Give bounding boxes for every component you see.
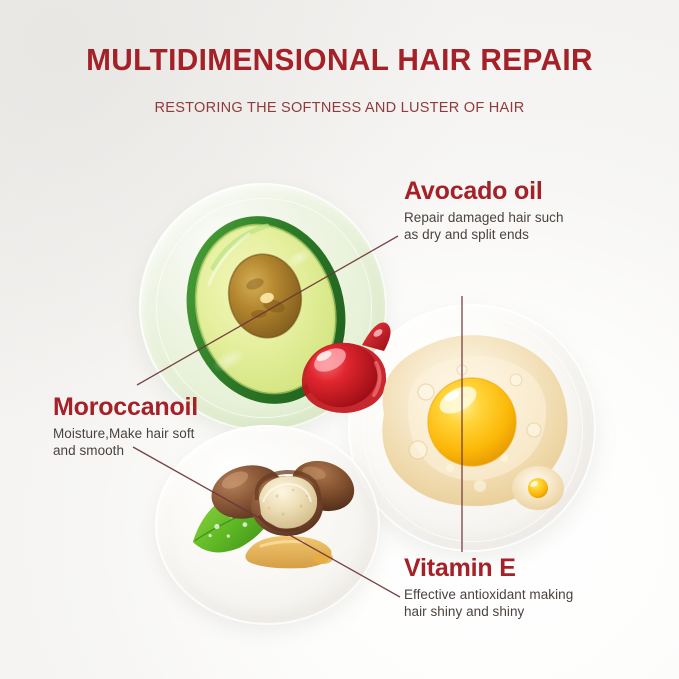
callout-vitamin-e-line-2: hair shiny and shiny (404, 603, 573, 620)
page-subtitle: RESTORING THE SOFTNESS AND LUSTER OF HAI… (10, 98, 669, 118)
argan-nuts-image (183, 440, 368, 580)
callout-avocado-title: Avocado oil (404, 176, 564, 206)
callout-avocado-line-2: as dry and split ends (404, 226, 564, 243)
callout-avocado-oil: Avocado oil Repair damaged hair such as … (404, 176, 564, 243)
callout-moroccanoil-title: Moroccanoil (53, 392, 198, 422)
callout-vitamin-e: Vitamin E Effective antioxidant making h… (404, 553, 573, 620)
callout-moroccanoil-line-1: Moisture,Make hair soft (53, 425, 198, 442)
product-infographic: MULTIDIMENSIONAL HAIR REPAIR RESTORING T… (0, 0, 679, 679)
callout-moroccanoil-description: Moisture,Make hair soft and smooth (53, 425, 198, 459)
callout-vitamin-e-line-1: Effective antioxidant making (404, 586, 573, 603)
callout-avocado-description: Repair damaged hair such as dry and spli… (404, 209, 564, 243)
callout-vitamin-e-description: Effective antioxidant making hair shiny … (404, 586, 573, 620)
callout-avocado-line-1: Repair damaged hair such (404, 209, 564, 226)
callout-moroccanoil: Moroccanoil Moisture,Make hair soft and … (53, 392, 198, 459)
egg-yolk-serum-image (366, 318, 584, 526)
page-title: MULTIDIMENSIONAL HAIR REPAIR (14, 42, 666, 78)
callout-moroccanoil-line-2: and smooth (53, 442, 198, 459)
callout-vitamin-e-title: Vitamin E (404, 553, 573, 583)
